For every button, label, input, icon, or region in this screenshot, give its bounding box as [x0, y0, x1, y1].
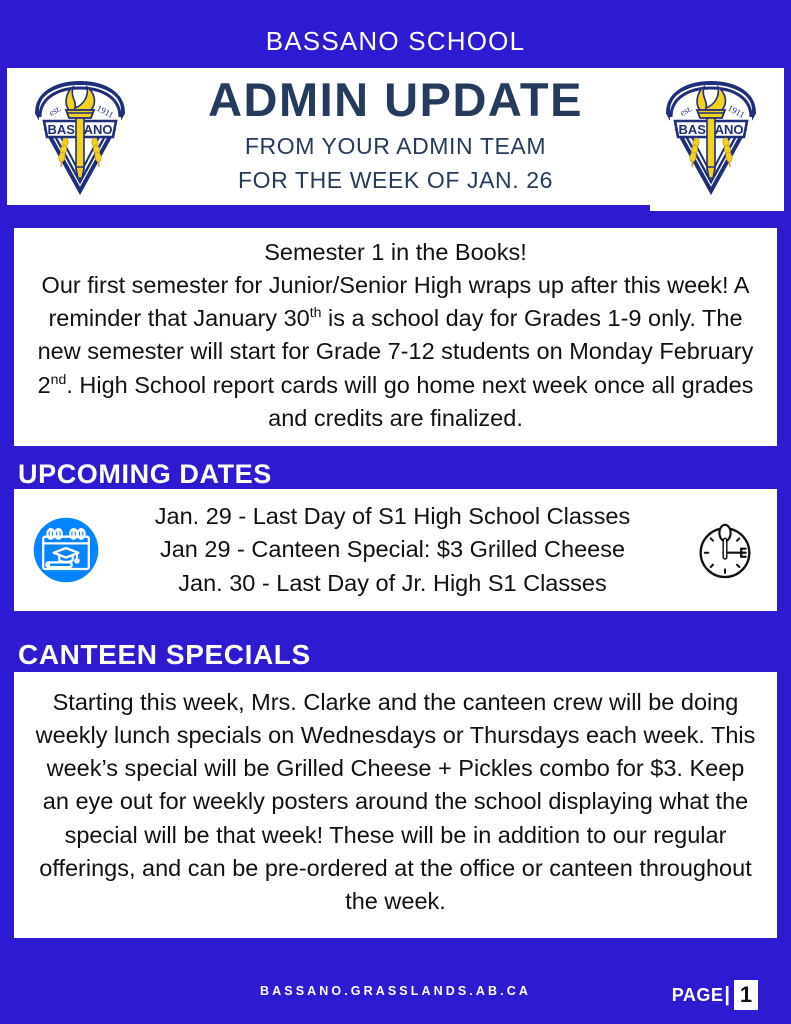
masthead-tail-bar [650, 205, 784, 211]
semester-announcement-paragraph: Our first semester for Junior/Senior Hig… [34, 269, 757, 435]
upcoming-dates-list: Jan. 29 - Last Day of S1 High School Cla… [118, 500, 673, 599]
page-footer: BASSANO.GRASSLANDS.AB.CA PAGE | 1 [0, 968, 791, 1024]
masthead-text-block: ADMIN UPDATE FROM YOUR ADMIN TEAM FOR TH… [135, 76, 656, 197]
list-item: Jan 29 - Canteen Special: $3 Grilled Che… [118, 533, 667, 566]
school-name: BASSANO SCHOOL [0, 0, 791, 54]
intro-sup-nd: nd [51, 371, 67, 387]
intro-text-post: . High School report cards will go home … [66, 372, 753, 431]
page-indicator: PAGE | 1 [672, 980, 758, 1010]
list-item: Jan. 30 - Last Day of Jr. High S1 Classe… [118, 567, 667, 600]
list-item: Jan. 29 - Last Day of S1 High School Cla… [118, 500, 667, 533]
lunch-clock-icon [673, 514, 777, 586]
page-title: ADMIN UPDATE [139, 76, 652, 124]
canteen-specials-card: Starting this week, Mrs. Clarke and the … [14, 672, 777, 938]
section-heading-upcoming-dates: UPCOMING DATES [18, 461, 272, 488]
canteen-specials-paragraph: Starting this week, Mrs. Clarke and the … [32, 686, 759, 918]
page-separator: | [724, 984, 730, 1007]
page-number: 1 [734, 980, 758, 1010]
masthead-subtitle-week: FOR THE WEEK OF JAN. 26 [139, 163, 652, 197]
bassano-school-crest-icon: est. 1911 BASSANO [25, 77, 135, 197]
intro-sup-th: th [310, 304, 322, 320]
masthead-banner: est. 1911 BASSANO [7, 68, 784, 205]
masthead-subtitle-from: FROM YOUR ADMIN TEAM [139, 129, 652, 163]
calendar-graduation-icon [14, 512, 118, 588]
bassano-school-crest-icon: est. 1911 BASSANO [656, 77, 766, 197]
semester-announcement-heading: Semester 1 in the Books! [34, 236, 757, 269]
section-heading-canteen-specials: CANTEEN SPECIALS [18, 641, 311, 669]
semester-announcement-card: Semester 1 in the Books! Our first semes… [14, 228, 777, 446]
upcoming-dates-card: Jan. 29 - Last Day of S1 High School Cla… [14, 489, 777, 611]
page-label: PAGE [672, 985, 724, 1006]
